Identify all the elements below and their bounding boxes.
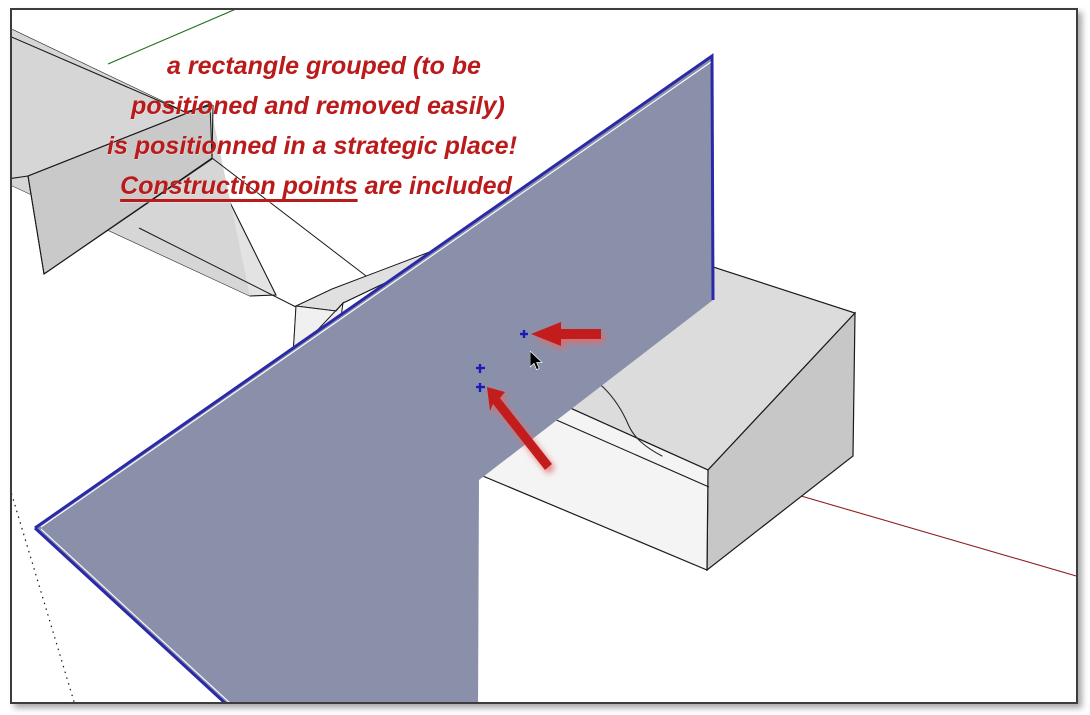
model-viewport-frame[interactable]: a rectangle grouped (to be positioned an… — [10, 8, 1078, 704]
grouped-rectangle-right-edge — [712, 56, 713, 300]
red-axis-line — [777, 489, 1078, 580]
green-axis-line — [108, 9, 236, 64]
background-box[interactable] — [10, 30, 370, 300]
screenshot-root: a rectangle grouped (to be positioned an… — [0, 0, 1090, 715]
sketchup-model-canvas[interactable] — [10, 8, 1078, 704]
